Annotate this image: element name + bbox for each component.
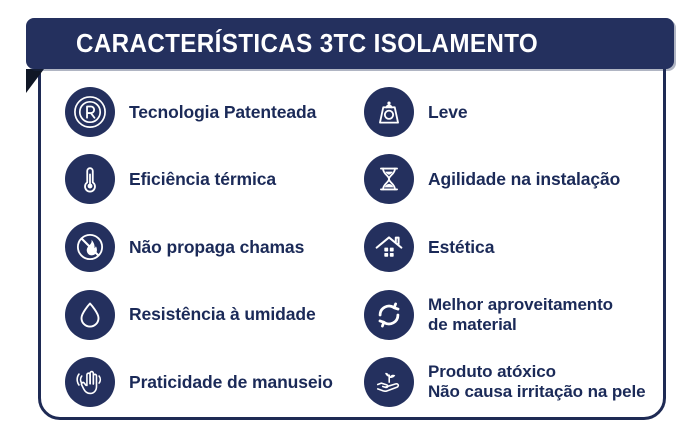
features-grid: Tecnologia Patenteada Leve <box>38 78 666 416</box>
infographic-card: CARACTERÍSTICAS 3TC ISOLAMENTO Tecnologi… <box>0 0 700 445</box>
feature-item-melhor-aproveitamento-de-material: Melhor aproveitamento de material <box>350 281 666 349</box>
feature-item-leve: Leve <box>350 78 666 146</box>
feature-item-eficiencia-termica: Eficiência térmica <box>38 146 350 214</box>
feature-label: Produto atóxico Não causa irritação na p… <box>428 362 645 401</box>
feature-item-estetica: Estética <box>350 213 666 281</box>
thermometer-icon <box>65 154 115 204</box>
feature-label: Eficiência térmica <box>129 169 276 189</box>
house-icon <box>364 222 414 272</box>
hourglass-icon <box>364 154 414 204</box>
no-flame-icon <box>65 222 115 272</box>
feature-label: Estética <box>428 237 494 257</box>
feature-label: Praticidade de manuseio <box>129 372 333 392</box>
hand-wave-icon <box>65 357 115 407</box>
feature-item-tecnologia-patenteada: Tecnologia Patenteada <box>38 78 350 146</box>
feature-label: Agilidade na instalação <box>428 169 620 189</box>
feature-item-produto-atoxico: Produto atóxico Não causa irritação na p… <box>350 348 666 416</box>
weight-icon <box>364 87 414 137</box>
registered-trademark-icon <box>65 87 115 137</box>
feature-item-praticidade-de-manuseio: Praticidade de manuseio <box>38 348 350 416</box>
feature-item-agilidade-na-instalacao: Agilidade na instalação <box>350 146 666 214</box>
feature-label: Melhor aproveitamento de material <box>428 295 613 334</box>
feature-label: Não propaga chamas <box>129 237 304 257</box>
page-title: CARACTERÍSTICAS 3TC ISOLAMENTO <box>76 28 538 59</box>
feature-label: Leve <box>428 102 468 122</box>
feature-item-resistencia-a-umidade: Resistência à umidade <box>38 281 350 349</box>
hand-plant-icon <box>364 357 414 407</box>
feature-label: Tecnologia Patenteada <box>129 102 316 122</box>
header-banner: CARACTERÍSTICAS 3TC ISOLAMENTO <box>26 18 674 69</box>
feature-label: Resistência à umidade <box>129 304 316 324</box>
recycle-arrows-icon <box>364 290 414 340</box>
feature-item-nao-propaga-chamas: Não propaga chamas <box>38 213 350 281</box>
water-drop-icon <box>65 290 115 340</box>
ribbon-fold-decoration <box>26 69 44 93</box>
